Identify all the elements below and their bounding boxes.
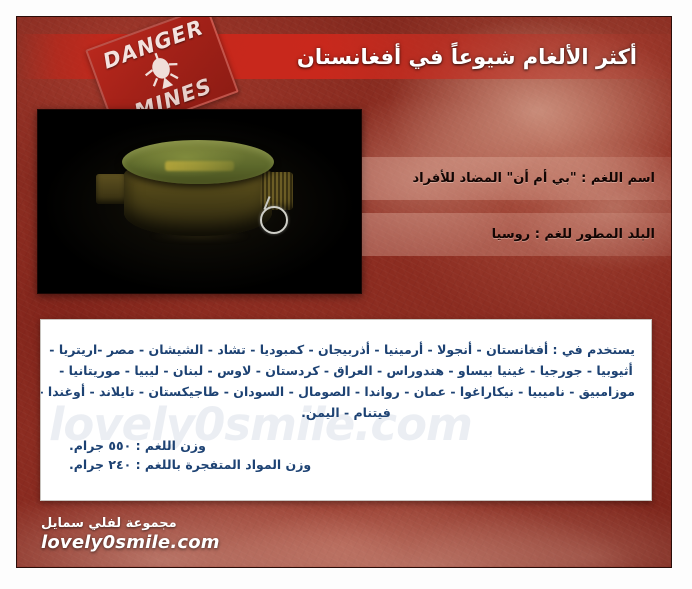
- explosive-weight-line: وزن المواد المتفجرة باللغم : ٢٤٠ جرام.: [69, 455, 635, 474]
- page-root: DANGER MINES أكثر الألغام شيوعاً في أفغا…: [0, 0, 692, 589]
- countries-line: فيتنام - اليمن.: [57, 402, 635, 423]
- mine-lid-marking: [165, 161, 235, 171]
- poster-frame: DANGER MINES أكثر الألغام شيوعاً في أفغا…: [16, 16, 672, 568]
- countries-line: موزامبيق - ناميبيا - نيكاراغوا - عمان - …: [57, 381, 635, 402]
- footer-site-url: lovely0smile.com: [41, 532, 220, 553]
- info-row-mine-name-label: اسم اللغم : "بي أم أن" المضاد للأفراد: [413, 171, 656, 186]
- details-box: lovely0smile.com يستخدم في : أفغانستان -…: [40, 319, 652, 501]
- mine-photo: [37, 109, 362, 294]
- mine-side-plug-left: [96, 174, 126, 204]
- footer: مجموعة لفلي سمايل lovely0smile.com: [41, 516, 220, 553]
- mine-safety-ring: [260, 206, 288, 234]
- details-box-inner: يستخدم في : أفغانستان - أنجولا - أرمينيا…: [41, 320, 651, 474]
- page-title: أكثر الألغام شيوعاً في أفغانستان: [17, 34, 671, 79]
- footer-arabic-label: مجموعة لفلي سمايل: [41, 516, 220, 531]
- info-row-developer-country-label: البلد المطور للغم : روسيا: [492, 227, 655, 242]
- info-row-developer-country: البلد المطور للغم : روسيا: [362, 213, 672, 256]
- mine-pressure-lid: [122, 140, 274, 184]
- mine-weight-line: وزن اللغم : ٥٥٠ جرام.: [69, 436, 635, 455]
- info-row-mine-name: اسم اللغم : "بي أم أن" المضاد للأفراد: [362, 157, 672, 200]
- countries-line: يستخدم في : أفغانستان - أنجولا - أرمينيا…: [57, 339, 635, 360]
- countries-line: أثيوبيا - جورجيا - غينيا بيساو - هندوراس…: [57, 360, 635, 381]
- weights-group: وزن اللغم : ٥٥٠ جرام. وزن المواد المتفجر…: [57, 436, 635, 474]
